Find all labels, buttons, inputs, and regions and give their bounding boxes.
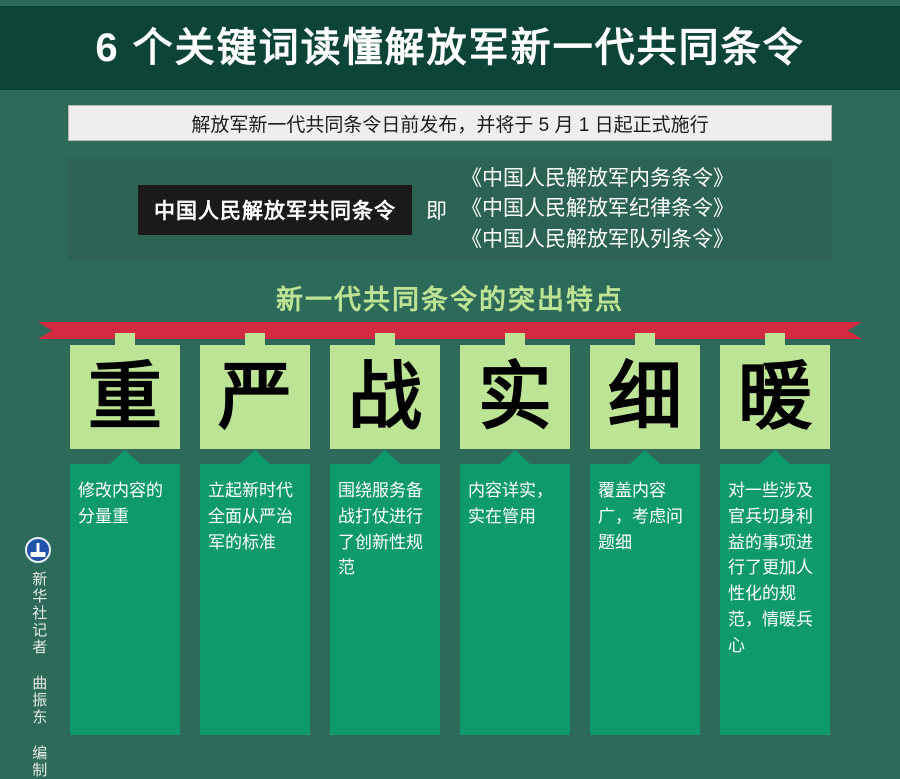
- definition-list-item: 《中国人民解放军纪律条令》: [461, 194, 734, 224]
- keyword-body-box: 对一些涉及官兵切身利益的事项进行了更加人性化的规范，情暖兵心: [720, 464, 830, 735]
- definition-list-item: 《中国人民解放军内务条令》: [461, 164, 734, 194]
- keyword-char: 暖: [738, 360, 812, 434]
- keyword-description: 围绕服务备战打仗进行了创新性规范: [338, 478, 432, 581]
- keyword-columns: 重 修改内容的分量重 严 立起新时代全面从严治军的标准 战 围绕服务备战打仗进行…: [70, 333, 830, 735]
- definition-list-item: 《中国人民解放军队列条令》: [461, 225, 734, 255]
- keyword-char: 重: [88, 360, 162, 434]
- keyword-char: 细: [608, 360, 682, 434]
- page-title: 6 个关键词读懂解放军新一代共同条令: [95, 28, 804, 68]
- keyword-body-box: 围绕服务备战打仗进行了创新性规范: [330, 464, 440, 735]
- keyword-description: 对一些涉及官兵切身利益的事项进行了更加人性化的规范，情暖兵心: [728, 478, 822, 659]
- definition-list: 《中国人民解放军内务条令》 《中国人民解放军纪律条令》 《中国人民解放军队列条令…: [461, 164, 734, 255]
- pointer-arrow-icon: [760, 450, 790, 464]
- credit-block: 新华社记者 曲振东 编制: [18, 537, 58, 779]
- keyword-column-5: 细 覆盖内容广，考虑问题细: [590, 333, 700, 735]
- keyword-description: 立起新时代全面从严治军的标准: [208, 478, 302, 555]
- keyword-char-box: 实: [460, 345, 570, 449]
- keyword-column-3: 战 围绕服务备战打仗进行了创新性规范: [330, 333, 440, 735]
- keyword-column-2: 严 立起新时代全面从严治军的标准: [200, 333, 310, 735]
- subtitle-bar: 解放军新一代共同条令日前发布，并将于 5 月 1 日起正式施行: [68, 105, 832, 141]
- xinhua-logo-icon: [25, 537, 51, 563]
- title-banner: 6 个关键词读懂解放军新一代共同条令: [0, 6, 900, 90]
- definition-badge: 中国人民解放军共同条令: [138, 185, 412, 235]
- section-heading: 新一代共同条令的突出特点: [0, 278, 900, 317]
- keyword-description: 内容详实，实在管用: [468, 478, 562, 530]
- credit-text: 新华社记者 曲振东 编制: [30, 571, 47, 779]
- keyword-char-box: 战: [330, 345, 440, 449]
- definition-equals-label: 即: [426, 195, 447, 225]
- keyword-char: 实: [478, 360, 552, 434]
- keyword-char-box: 重: [70, 345, 180, 449]
- keyword-body-box: 内容详实，实在管用: [460, 464, 570, 735]
- subtitle-text: 解放军新一代共同条令日前发布，并将于 5 月 1 日起正式施行: [191, 110, 708, 137]
- pointer-arrow-icon: [500, 450, 530, 464]
- keyword-body-box: 修改内容的分量重: [70, 464, 180, 735]
- keyword-column-4: 实 内容详实，实在管用: [460, 333, 570, 735]
- pointer-arrow-icon: [630, 450, 660, 464]
- pointer-arrow-icon: [110, 450, 140, 464]
- keyword-description: 修改内容的分量重: [78, 478, 172, 530]
- keyword-char: 严: [218, 360, 292, 434]
- keyword-column-1: 重 修改内容的分量重: [70, 333, 180, 735]
- keyword-char-box: 暖: [720, 345, 830, 449]
- pointer-arrow-icon: [240, 450, 270, 464]
- keyword-body-box: 立起新时代全面从严治军的标准: [200, 464, 310, 735]
- keyword-char-box: 严: [200, 345, 310, 449]
- keyword-char-box: 细: [590, 345, 700, 449]
- pointer-arrow-icon: [370, 450, 400, 464]
- keyword-char: 战: [348, 360, 422, 434]
- definition-panel: 中国人民解放军共同条令 即 《中国人民解放军内务条令》 《中国人民解放军纪律条令…: [68, 158, 832, 261]
- keyword-column-6: 暖 对一些涉及官兵切身利益的事项进行了更加人性化的规范，情暖兵心: [720, 333, 830, 735]
- keyword-body-box: 覆盖内容广，考虑问题细: [590, 464, 700, 735]
- keyword-description: 覆盖内容广，考虑问题细: [598, 478, 692, 555]
